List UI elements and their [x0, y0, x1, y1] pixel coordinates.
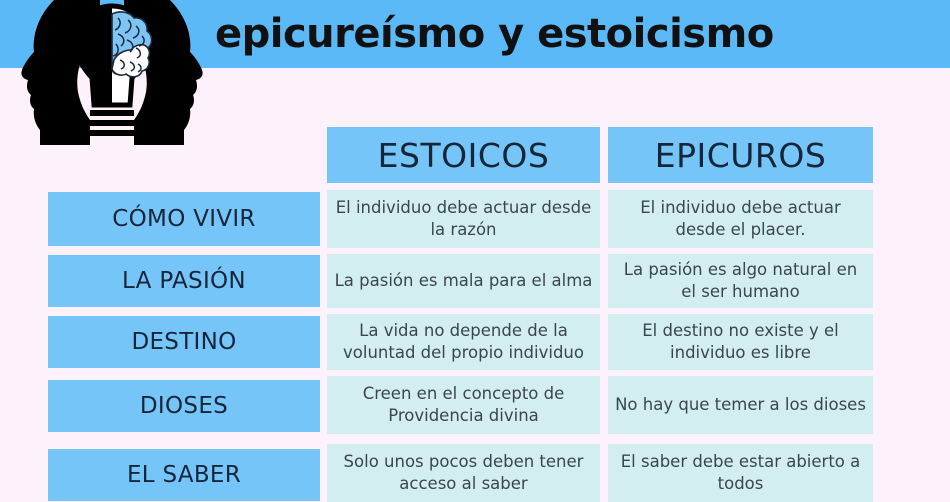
row-label-dioses: DIOSES: [48, 380, 320, 432]
cell-text: El individuo debe actuar desde la razón: [333, 197, 594, 241]
row-label-la-pasion: LA PASIÓN: [48, 255, 320, 307]
cell-text: La pasión es mala para el alma: [333, 270, 594, 292]
row-label-el-saber: EL SABER: [48, 449, 320, 501]
row-label-como-vivir: CÓMO VIVIR: [48, 192, 320, 246]
cell-estoicos-como-vivir: El individuo debe actuar desde la razón: [327, 190, 600, 248]
cell-text: El saber debe estar abierto a todos: [614, 451, 867, 495]
cell-epicuros-destino: El destino no existe y el individuo es l…: [608, 314, 873, 370]
cell-epicuros-dioses: No hay que temer a los dioses: [608, 376, 873, 434]
column-header-estoicos: ESTOICOS: [327, 127, 600, 183]
cell-epicuros-como-vivir: El individuo debe actuar desde el placer…: [608, 190, 873, 248]
cell-text: La vida no depende de la voluntad del pr…: [333, 320, 594, 364]
row-label-destino: DESTINO: [48, 316, 320, 368]
cell-text: No hay que temer a los dioses: [614, 394, 867, 416]
cell-estoicos-la-pasion: La pasión es mala para el alma: [327, 254, 600, 308]
cell-epicuros-la-pasion: La pasión es algo natural en el ser huma…: [608, 254, 873, 308]
cell-text: El individuo debe actuar desde el placer…: [614, 197, 867, 241]
cell-text: Creen en el concepto de Providencia divi…: [333, 383, 594, 427]
cell-estoicos-el-saber: Solo unos pocos deben tener acceso al sa…: [327, 444, 600, 502]
column-header-epicuros: EPICUROS: [608, 127, 873, 183]
cell-text: Solo unos pocos deben tener acceso al sa…: [333, 451, 594, 495]
two-heads-lightbulb-brain-logo: [14, 0, 210, 145]
cell-text: El destino no existe y el individuo es l…: [614, 320, 867, 364]
cell-epicuros-el-saber: El saber debe estar abierto a todos: [608, 444, 873, 502]
cell-estoicos-destino: La vida no depende de la voluntad del pr…: [327, 314, 600, 370]
cell-text: La pasión es algo natural en el ser huma…: [614, 259, 867, 303]
cell-estoicos-dioses: Creen en el concepto de Providencia divi…: [327, 376, 600, 434]
